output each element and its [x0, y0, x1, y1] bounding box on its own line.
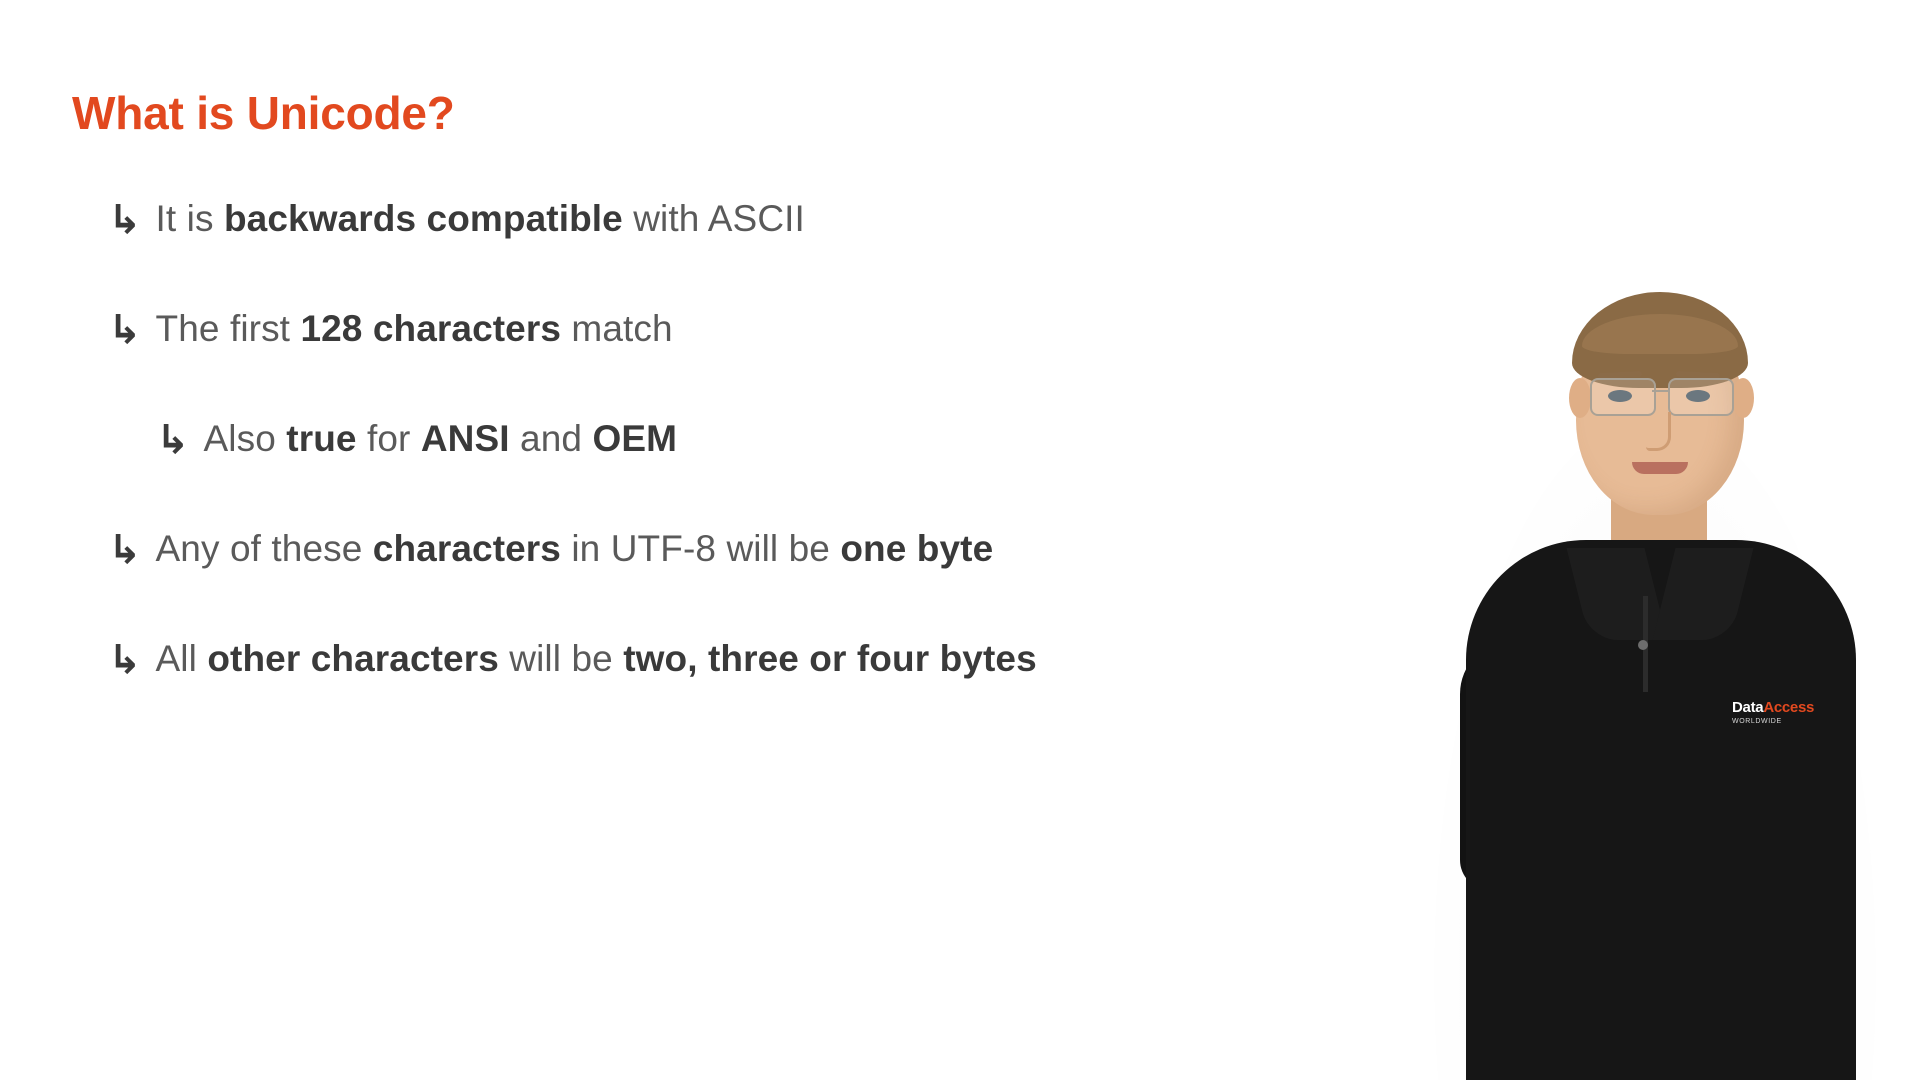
bullet-item: ↳ All other characters will be two, thre… — [108, 638, 1358, 748]
glasses-bridge — [1652, 390, 1668, 392]
shirt-logo: DataAccess WORLDWIDE — [1732, 700, 1814, 725]
arrow-down-right-icon: ↳ — [156, 420, 190, 460]
bullet-segment-bold: backwards compatible — [224, 198, 623, 239]
arrow-down-right-icon: ↳ — [108, 530, 142, 570]
bullet-segment: It is — [156, 198, 224, 239]
bullet-item: ↳ The first 128 characters match — [108, 308, 1358, 418]
bullet-segment-bold: one byte — [840, 528, 993, 569]
bullet-segment: for — [357, 418, 421, 459]
bullet-segment-bold: other characters — [207, 638, 499, 679]
bullet-segment-bold: characters — [373, 528, 561, 569]
bullet-segment-bold: OEM — [592, 418, 677, 459]
presenter-nose — [1646, 412, 1671, 451]
bullet-text: Any of these characters in UTF-8 will be… — [156, 528, 994, 570]
bullet-text: The first 128 characters match — [156, 308, 673, 350]
glasses-lens-left — [1590, 378, 1656, 416]
arrow-down-right-icon: ↳ — [108, 640, 142, 680]
bullet-text: All other characters will be two, three … — [156, 638, 1037, 680]
bullet-item: ↳ Any of these characters in UTF-8 will … — [108, 528, 1358, 638]
bullet-segment: All — [156, 638, 208, 679]
bullet-segment: and — [510, 418, 593, 459]
bullet-segment: in UTF-8 will be — [561, 528, 840, 569]
shirt-logo-brand-first: Data — [1732, 699, 1763, 716]
bullet-segment-bold: 128 characters — [300, 308, 561, 349]
arrow-down-right-icon: ↳ — [108, 310, 142, 350]
bullet-item: ↳ It is backwards compatible with ASCII — [108, 198, 1358, 308]
bullet-segment-bold: ANSI — [421, 418, 510, 459]
bullet-segment-bold: true — [286, 418, 356, 459]
bullet-segment: will be — [499, 638, 623, 679]
bullet-text: Also true for ANSI and OEM — [204, 418, 678, 460]
glasses-lens-right — [1668, 378, 1734, 416]
page-title: What is Unicode? — [72, 86, 455, 140]
bullet-segment: match — [561, 308, 673, 349]
shirt-logo-brand-second: Access — [1763, 699, 1814, 716]
bullet-segment-bold: two, three or four bytes — [623, 638, 1037, 679]
bullet-segment: Any of these — [156, 528, 373, 569]
presenter-mouth — [1632, 462, 1688, 474]
arrow-down-right-icon: ↳ — [108, 200, 142, 240]
bullet-segment: The first — [156, 308, 301, 349]
presentation-slide: What is Unicode? ↳ It is backwards compa… — [0, 0, 1920, 1080]
bullet-text: It is backwards compatible with ASCII — [156, 198, 805, 240]
bullet-list: ↳ It is backwards compatible with ASCII … — [108, 198, 1358, 748]
bullet-segment: with ASCII — [623, 198, 805, 239]
shirt-logo-tagline: WORLDWIDE — [1732, 718, 1814, 725]
presenter-shirt-button — [1638, 640, 1648, 650]
shirt-logo-brand: DataAccess — [1732, 700, 1814, 715]
bullet-segment: Also — [204, 418, 287, 459]
bullet-item-sub: ↳ Also true for ANSI and OEM — [108, 418, 1358, 528]
presenter-video: DataAccess WORLDWIDE — [1380, 0, 1920, 1080]
